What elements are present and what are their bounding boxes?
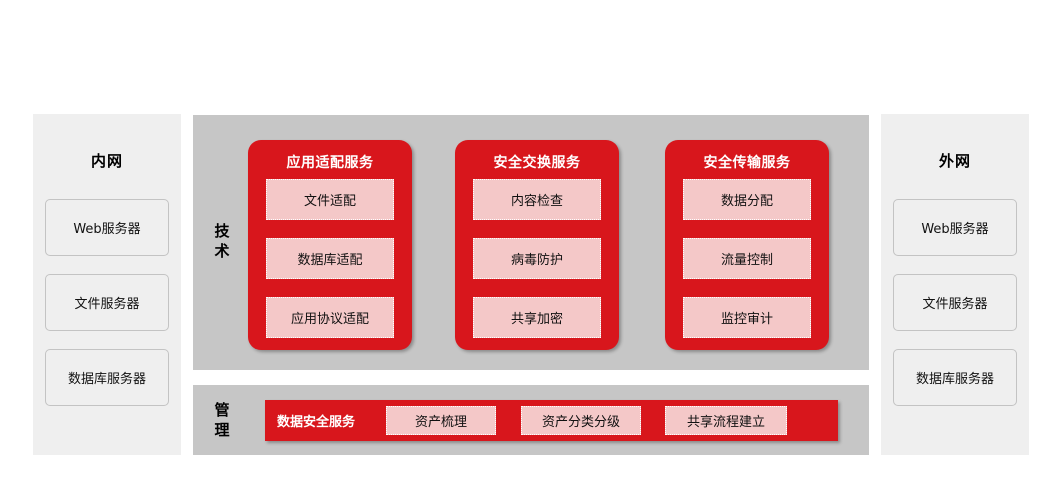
service-item: 数据分配 — [683, 179, 811, 220]
extranet-panel: 外网 Web服务器 文件服务器 数据库服务器 — [881, 114, 1029, 455]
management-layer-label: 管理 — [211, 400, 233, 440]
service-card-title: 应用适配服务 — [248, 152, 412, 172]
data-security-service-title: 数据安全服务 — [277, 400, 355, 441]
intranet-file-server: 文件服务器 — [45, 274, 169, 331]
management-item: 共享流程建立 — [665, 406, 787, 435]
service-item: 监控审计 — [683, 297, 811, 338]
intranet-panel: 内网 Web服务器 文件服务器 数据库服务器 — [33, 114, 181, 455]
service-item: 数据库适配 — [266, 238, 394, 279]
intranet-title: 内网 — [33, 150, 181, 171]
service-item: 病毒防护 — [473, 238, 601, 279]
service-item: 内容检查 — [473, 179, 601, 220]
service-card-app-adaptation: 应用适配服务 文件适配 数据库适配 应用协议适配 — [248, 140, 412, 350]
intranet-database-server: 数据库服务器 — [45, 349, 169, 406]
service-card-secure-transmission: 安全传输服务 数据分配 流量控制 监控审计 — [665, 140, 829, 350]
service-card-secure-exchange: 安全交换服务 内容检查 病毒防护 共享加密 — [455, 140, 619, 350]
service-card-title: 安全交换服务 — [455, 152, 619, 172]
extranet-database-server: 数据库服务器 — [893, 349, 1017, 406]
technology-layer-label: 技术 — [211, 221, 233, 261]
extranet-web-server: Web服务器 — [893, 199, 1017, 256]
data-security-service-bar: 数据安全服务 资产梳理 资产分类分级 共享流程建立 — [265, 400, 838, 441]
service-item: 应用协议适配 — [266, 297, 394, 338]
diagram-canvas: 内网 Web服务器 文件服务器 数据库服务器 技术 应用适配服务 文件适配 数据… — [0, 0, 1052, 486]
service-item: 流量控制 — [683, 238, 811, 279]
service-card-title: 安全传输服务 — [665, 152, 829, 172]
management-item: 资产分类分级 — [521, 406, 641, 435]
service-item: 共享加密 — [473, 297, 601, 338]
extranet-title: 外网 — [881, 150, 1029, 171]
extranet-file-server: 文件服务器 — [893, 274, 1017, 331]
intranet-web-server: Web服务器 — [45, 199, 169, 256]
service-item: 文件适配 — [266, 179, 394, 220]
management-item: 资产梳理 — [386, 406, 496, 435]
